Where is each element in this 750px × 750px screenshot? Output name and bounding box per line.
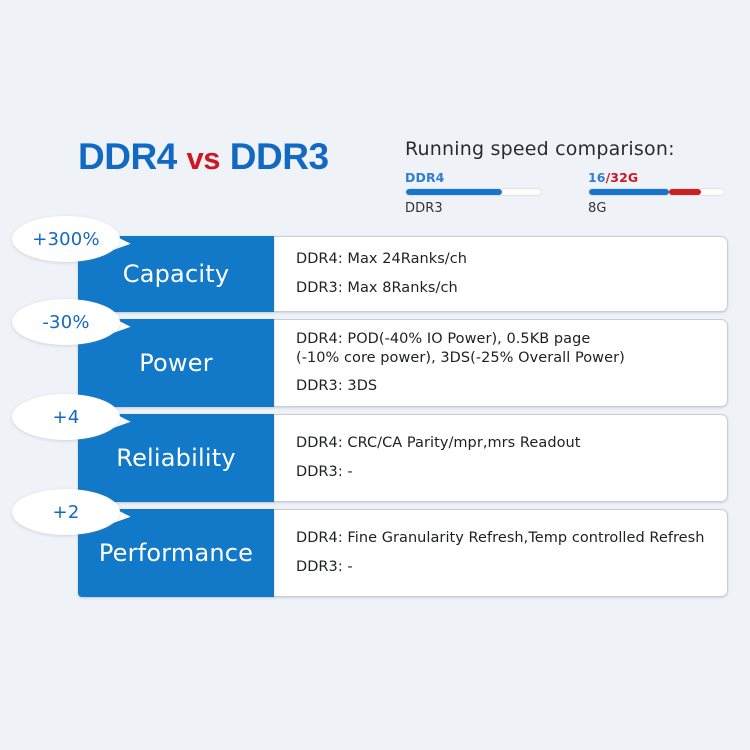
bar-track-0	[405, 188, 542, 196]
badge-label: +2	[53, 502, 80, 523]
badge-bubble-power: -30%	[12, 299, 120, 345]
detail-power: DDR4: POD(-40% IO Power), 0.5KB page (-1…	[274, 319, 728, 407]
comparison-row: +300% Capacity DDR4: Max 24Ranks/ch DDR3…	[78, 236, 728, 312]
speed-comparison-block: Running speed comparison: DDR4 DDR3 16/3…	[405, 138, 735, 216]
comparison-row: -30% Power DDR4: POD(-40% IO Power), 0.5…	[78, 319, 728, 407]
bar-bottom-label-0: DDR3	[405, 201, 542, 216]
title-ddr3: DDR3	[230, 136, 329, 177]
badge-bubble-performance: +2	[12, 489, 120, 535]
detail-line-ddr3: DDR3: -	[296, 558, 727, 577]
speed-bars: DDR4 DDR3 16/32G 8G	[405, 170, 735, 216]
badge-label: +300%	[32, 229, 100, 250]
category-label: Reliability	[116, 444, 235, 472]
bubble-body: +2	[12, 489, 120, 535]
badge-label: +4	[53, 407, 80, 428]
infographic-page: DDR4 vs DDR3 Running speed comparison: D…	[0, 0, 750, 750]
detail-reliability: DDR4: CRC/CA Parity/mpr,mrs Readout DDR3…	[274, 414, 728, 502]
category-label: Performance	[99, 539, 253, 567]
speed-bar-ddr4-ddr3: DDR4 DDR3	[405, 170, 542, 216]
bar-top-label-blue-1: 16	[588, 170, 606, 185]
bubble-body: +4	[12, 394, 120, 440]
bubble-body: -30%	[12, 299, 120, 345]
detail-line-ddr3: DDR3: 3DS	[296, 377, 727, 396]
speed-bar-capacity: 16/32G 8G	[588, 170, 725, 216]
title-vs: vs	[187, 141, 220, 176]
title-ddr4: DDR4	[78, 136, 177, 177]
badge-bubble-reliability: +4	[12, 394, 120, 440]
category-label: Capacity	[123, 260, 229, 288]
detail-capacity: DDR4: Max 24Ranks/ch DDR3: Max 8Ranks/ch	[274, 236, 728, 312]
detail-line-ddr3: DDR3: Max 8Ranks/ch	[296, 279, 727, 298]
bar-track-1	[588, 188, 725, 196]
bar-segment-red-fill	[669, 189, 701, 195]
category-label: Power	[139, 349, 213, 377]
comparison-row: +4 Reliability DDR4: CRC/CA Parity/mpr,m…	[78, 414, 728, 502]
bar-top-label-1: 16/32G	[588, 170, 725, 185]
bar-top-label-0: DDR4	[405, 170, 542, 185]
bubble-body: +300%	[12, 216, 120, 262]
detail-line-ddr4: DDR4: Max 24Ranks/ch	[296, 250, 727, 269]
badge-label: -30%	[42, 312, 89, 333]
bar-top-label-red-1: /32G	[606, 170, 639, 185]
comparison-row: +2 Performance DDR4: Fine Granularity Re…	[78, 509, 728, 597]
comparison-rows: +300% Capacity DDR4: Max 24Ranks/ch DDR3…	[78, 236, 728, 604]
page-title: DDR4 vs DDR3	[78, 136, 329, 178]
bar-segment-blue-fill	[589, 189, 669, 195]
detail-performance: DDR4: Fine Granularity Refresh,Temp cont…	[274, 509, 728, 597]
detail-line-ddr3: DDR3: -	[296, 463, 727, 482]
bar-bottom-label-1: 8G	[588, 201, 725, 216]
bar-top-label-blue-0: DDR4	[405, 170, 444, 185]
detail-line-ddr4: DDR4: Fine Granularity Refresh,Temp cont…	[296, 529, 727, 548]
detail-line-ddr4: DDR4: POD(-40% IO Power), 0.5KB page (-1…	[296, 330, 727, 368]
speed-comparison-heading: Running speed comparison:	[405, 138, 735, 160]
badge-bubble-capacity: +300%	[12, 216, 120, 262]
bar-segment-ddr4-fill	[406, 189, 502, 195]
detail-line-ddr4: DDR4: CRC/CA Parity/mpr,mrs Readout	[296, 434, 727, 453]
